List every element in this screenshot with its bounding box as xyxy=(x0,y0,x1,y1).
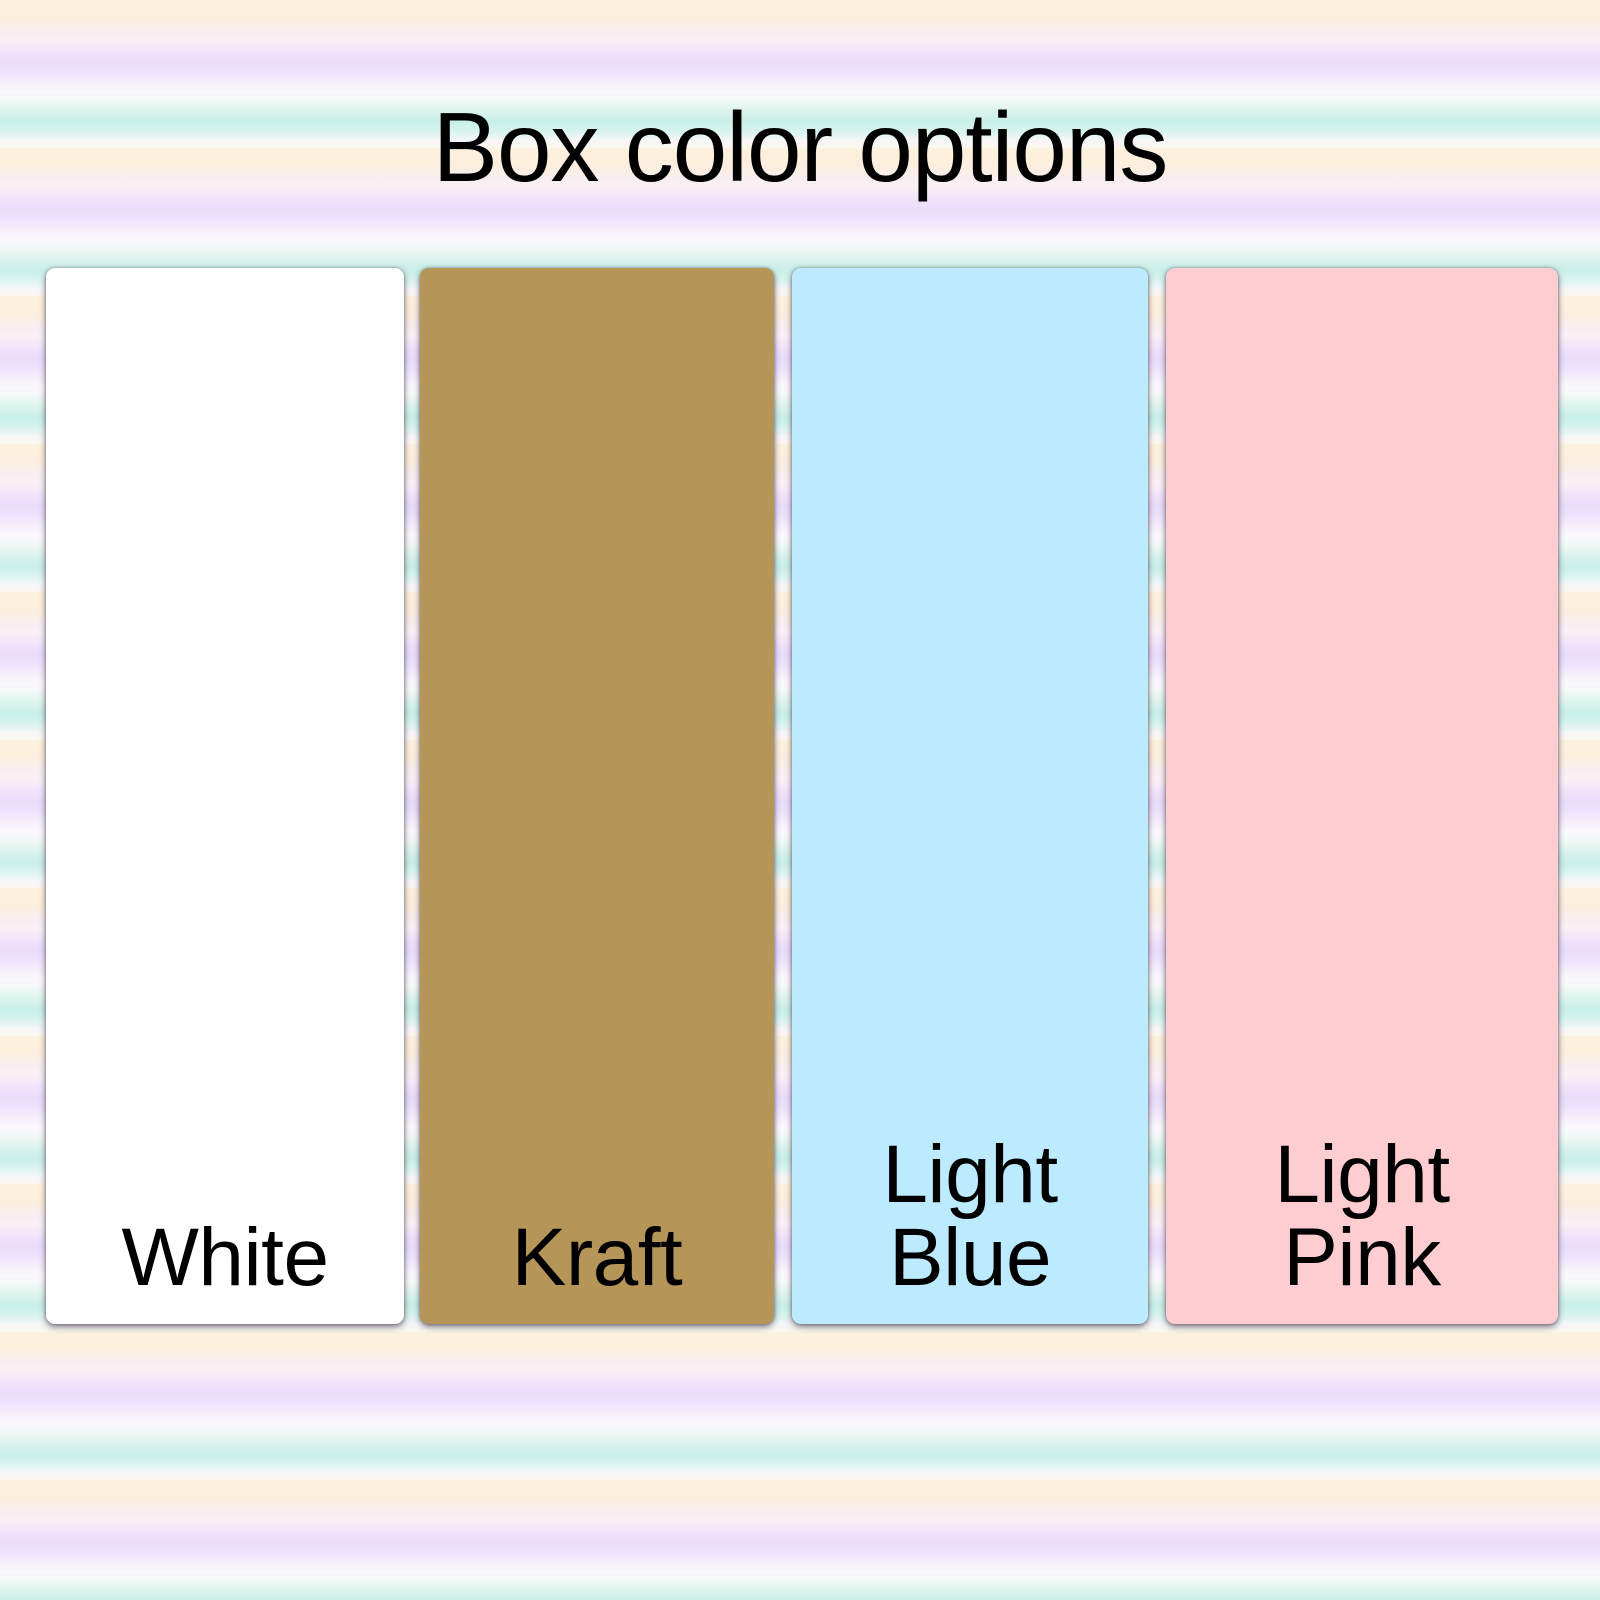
color-swatch-white[interactable]: White xyxy=(46,268,404,1324)
page-title: Box color options xyxy=(0,96,1600,199)
color-swatch-label: Kraft xyxy=(420,1216,774,1324)
color-swatch-kraft[interactable]: Kraft xyxy=(420,268,774,1324)
color-swatch-label-line: White xyxy=(56,1216,394,1300)
color-swatch-label: LightPink xyxy=(1166,1133,1558,1324)
color-swatch-label-line: Light xyxy=(802,1133,1138,1217)
swatch-strip: White Kraft LightBlue LightPink xyxy=(46,268,1558,1324)
color-options-canvas: Box color options White Kraft LightBlue … xyxy=(0,0,1600,1600)
color-swatch-label: White xyxy=(46,1216,404,1324)
color-swatch-label-line: Kraft xyxy=(430,1216,764,1300)
color-swatch-light-pink[interactable]: LightPink xyxy=(1166,268,1558,1324)
color-swatch-label: LightBlue xyxy=(792,1133,1148,1324)
color-swatch-label-line: Light xyxy=(1176,1133,1548,1217)
color-swatch-label-line: Pink xyxy=(1176,1216,1548,1300)
color-swatch-light-blue[interactable]: LightBlue xyxy=(792,268,1148,1324)
color-swatch-label-line: Blue xyxy=(802,1216,1138,1300)
